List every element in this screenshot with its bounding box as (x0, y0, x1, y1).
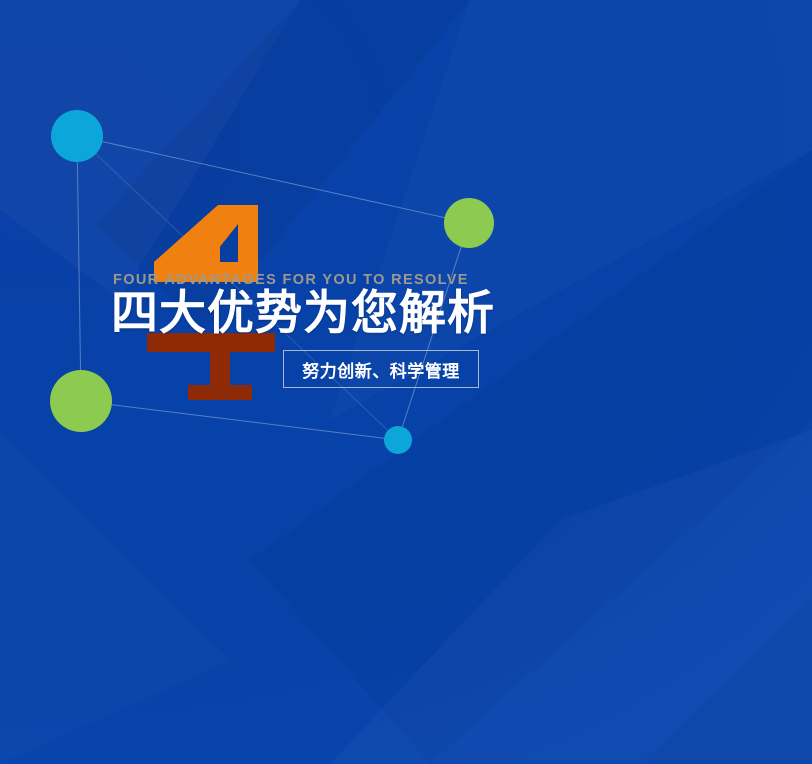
hero-headline: 四大优势为您解析 (111, 289, 495, 337)
hero-tagline-badge[interactable]: 努力创新、科学管理 (283, 350, 479, 388)
promo-banner: FOUR ADVANTAGES FOR YOU TO RESOLVE 四大优势为… (0, 0, 812, 764)
hero-tagline-text: 努力创新、科学管理 (302, 357, 460, 382)
hero-content: FOUR ADVANTAGES FOR YOU TO RESOLVE 四大优势为… (0, 0, 812, 764)
numeral-four-bottom (147, 333, 275, 400)
